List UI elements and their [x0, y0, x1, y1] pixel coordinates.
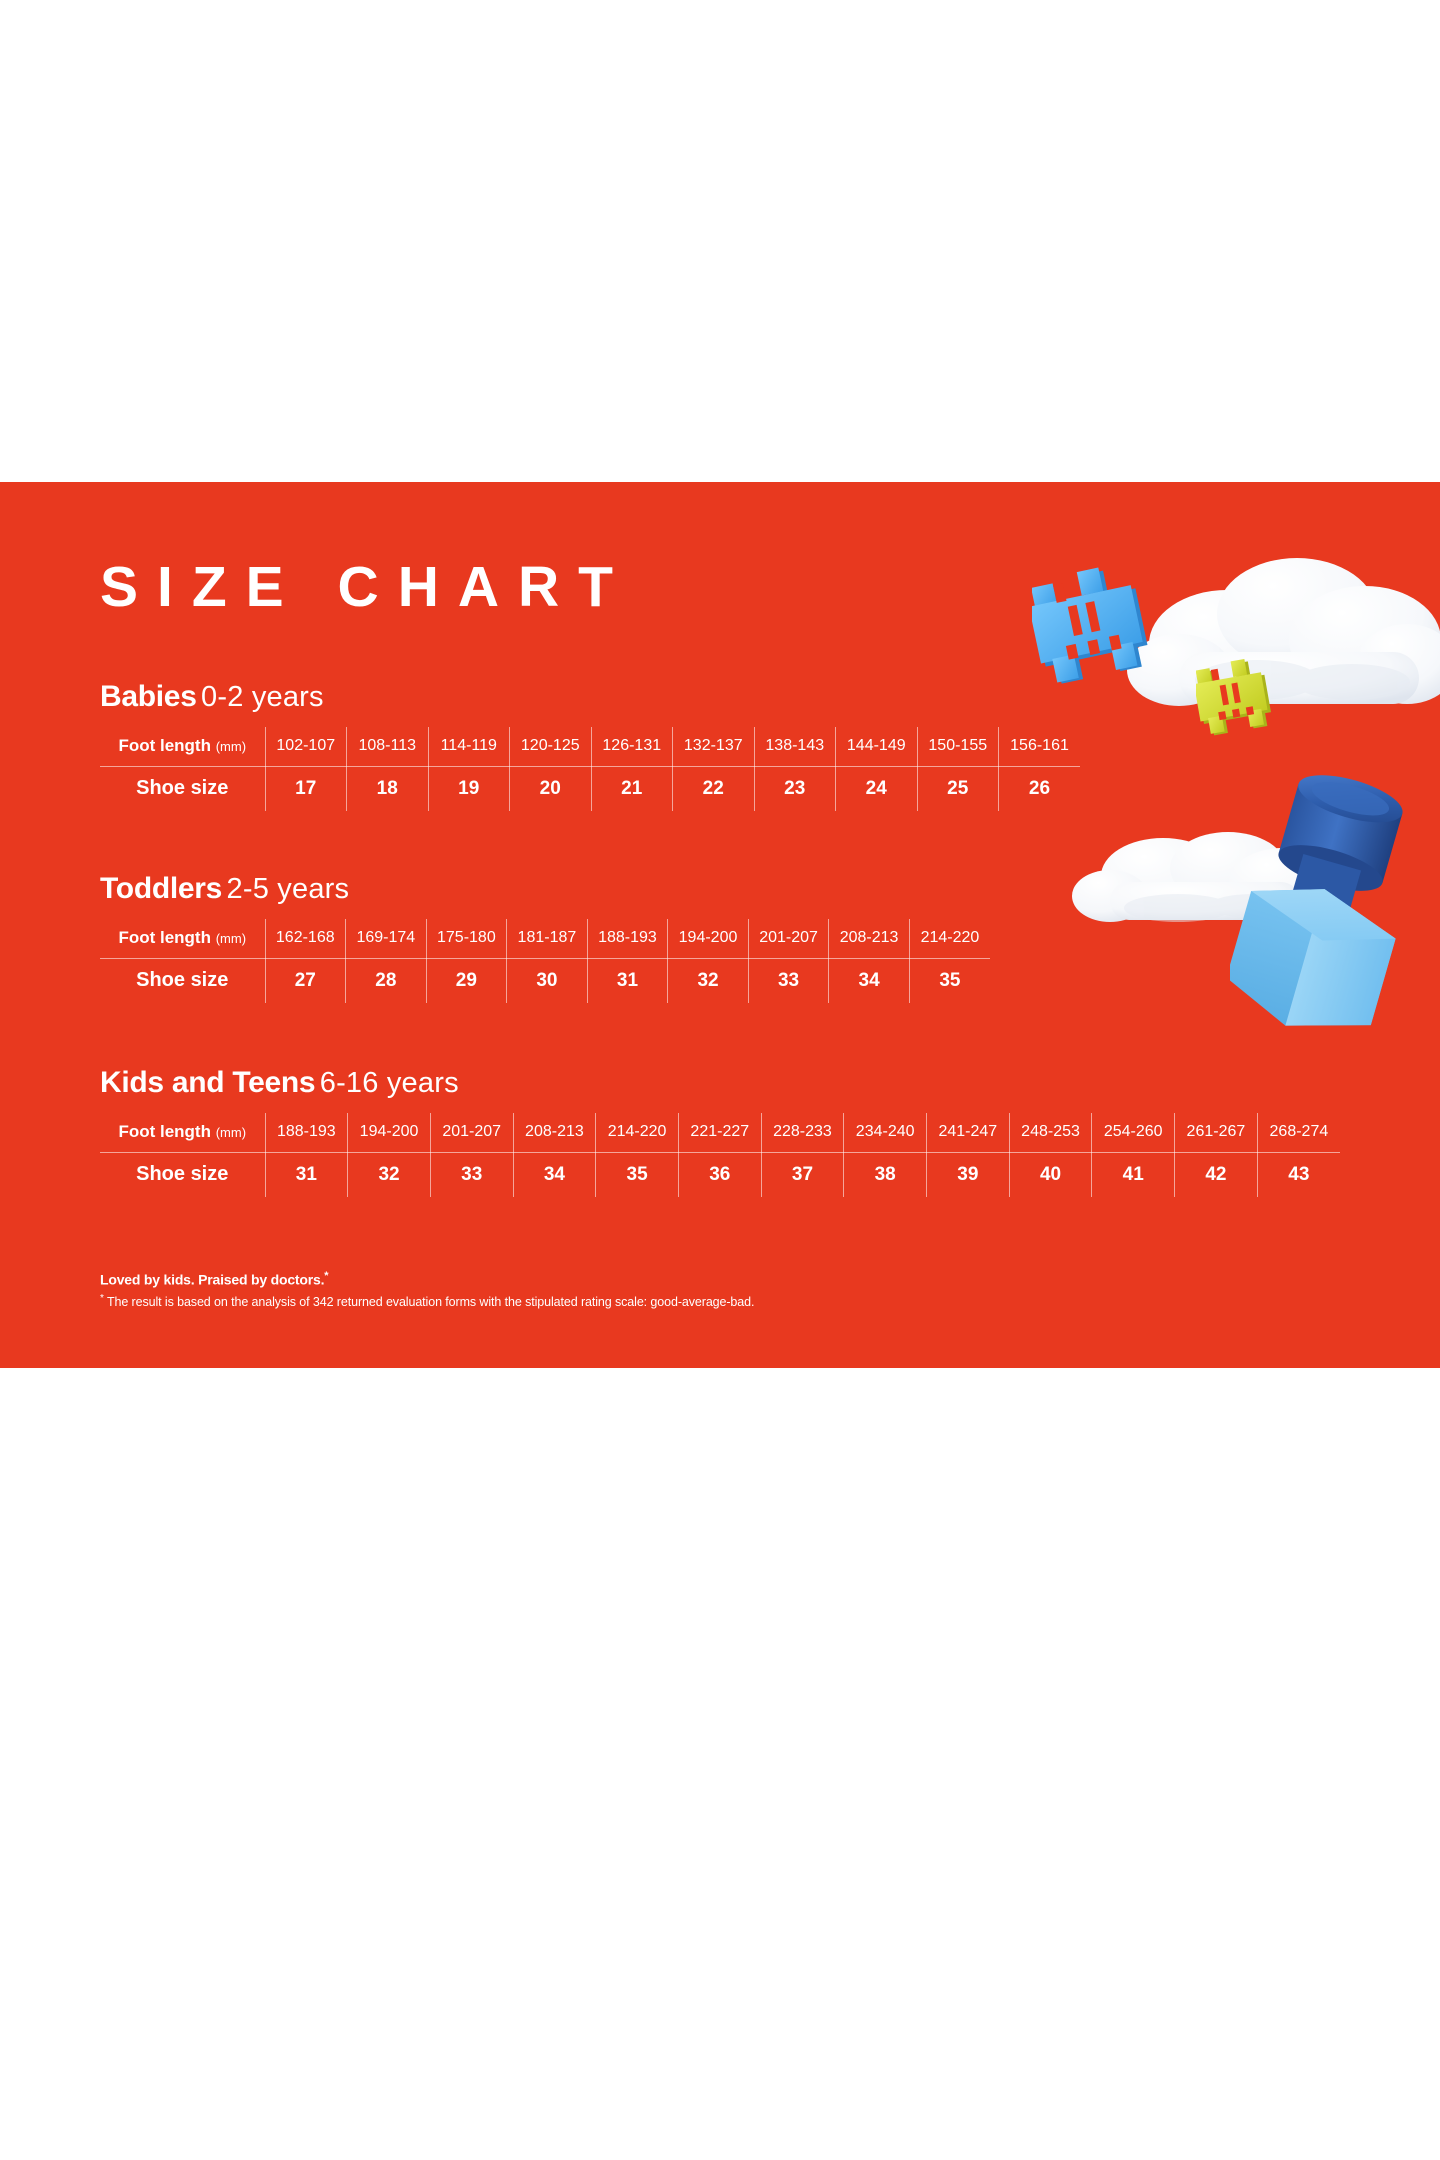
- size-table-toddlers: Foot length (mm) 162-168 169-174 175-180…: [100, 919, 990, 1003]
- cell-shoe-size: 33: [748, 958, 829, 1003]
- cell-foot-length: 156-161: [999, 727, 1081, 766]
- row-label-text: Foot length: [118, 736, 211, 755]
- cell-shoe-size: 30: [507, 958, 588, 1003]
- row-label-foot-length: Foot length (mm): [100, 727, 265, 766]
- cell-foot-length: 188-193: [265, 1113, 348, 1152]
- cell-shoe-size: 36: [678, 1152, 761, 1197]
- footer-tagline-text: Loved by kids. Praised by doctors.: [100, 1272, 324, 1288]
- section-age-range: 0-2 years: [201, 681, 324, 713]
- cell-shoe-size: 34: [829, 958, 910, 1003]
- cell-shoe-size: 18: [347, 766, 429, 811]
- cell-foot-length: 120-125: [510, 727, 592, 766]
- row-label-text: Foot length: [118, 928, 211, 947]
- cell-shoe-size: 35: [596, 1152, 679, 1197]
- cell-shoe-size: 26: [999, 766, 1081, 811]
- cell-foot-length: 108-113: [347, 727, 429, 766]
- cell-shoe-size: 33: [430, 1152, 513, 1197]
- size-table-babies: Foot length (mm) 102-107 108-113 114-119…: [100, 727, 1080, 811]
- cell-shoe-size: 20: [510, 766, 592, 811]
- cell-foot-length: 214-220: [909, 919, 990, 958]
- section-kids-and-teens: Kids and Teens 6-16 years Foot length (m…: [100, 1068, 1340, 1197]
- cell-foot-length: 194-200: [668, 919, 749, 958]
- table-row-foot-length: Foot length (mm) 162-168 169-174 175-180…: [100, 919, 990, 958]
- cell-shoe-size: 27: [265, 958, 346, 1003]
- cell-foot-length: 181-187: [507, 919, 588, 958]
- section-age-range: 2-5 years: [227, 873, 350, 905]
- cell-shoe-size: 22: [673, 766, 755, 811]
- cell-foot-length: 268-274: [1257, 1113, 1340, 1152]
- cell-foot-length: 248-253: [1009, 1113, 1092, 1152]
- cell-shoe-size: 21: [591, 766, 673, 811]
- cell-foot-length: 138-143: [754, 727, 836, 766]
- cell-shoe-size: 25: [917, 766, 999, 811]
- cell-foot-length: 188-193: [587, 919, 668, 958]
- footer: Loved by kids. Praised by doctors.* * Th…: [100, 1270, 754, 1311]
- cell-shoe-size: 24: [836, 766, 918, 811]
- cell-foot-length: 162-168: [265, 919, 346, 958]
- cell-foot-length: 261-267: [1175, 1113, 1258, 1152]
- table-row-shoe-size: Shoe size 27 28 29 30 31 32 33 34 35: [100, 958, 990, 1003]
- section-babies: Babies 0-2 years Foot length (mm) 102-10…: [100, 682, 1080, 811]
- table-row-foot-length: Foot length (mm) 102-107 108-113 114-119…: [100, 727, 1080, 766]
- cell-shoe-size: 37: [761, 1152, 844, 1197]
- page-title: SIZE CHART: [100, 559, 632, 616]
- cell-foot-length: 126-131: [591, 727, 673, 766]
- cell-foot-length: 144-149: [836, 727, 918, 766]
- section-heading-toddlers: Toddlers 2-5 years: [100, 874, 990, 904]
- cell-shoe-size: 35: [909, 958, 990, 1003]
- cell-shoe-size: 41: [1092, 1152, 1175, 1197]
- footer-note-text: The result is based on the analysis of 3…: [104, 1295, 755, 1309]
- cell-foot-length: 132-137: [673, 727, 755, 766]
- cell-foot-length: 241-247: [927, 1113, 1010, 1152]
- cell-foot-length: 221-227: [678, 1113, 761, 1152]
- cell-foot-length: 208-213: [829, 919, 910, 958]
- cell-foot-length: 175-180: [426, 919, 507, 958]
- table-row-foot-length: Foot length (mm) 188-193 194-200 201-207…: [100, 1113, 1340, 1152]
- table-row-shoe-size: Shoe size 31 32 33 34 35 36 37 38 39 40 …: [100, 1152, 1340, 1197]
- row-label-foot-length: Foot length (mm): [100, 919, 265, 958]
- cell-shoe-size: 39: [927, 1152, 1010, 1197]
- cell-shoe-size: 28: [346, 958, 427, 1003]
- section-heading-babies: Babies 0-2 years: [100, 682, 1080, 712]
- cell-foot-length: 201-207: [748, 919, 829, 958]
- size-chart-page: SIZE CHART Babies 0-2 years Foot length …: [0, 0, 1440, 2160]
- footer-tagline: Loved by kids. Praised by doctors.*: [100, 1270, 754, 1289]
- row-label-shoe-size: Shoe size: [100, 766, 265, 811]
- cell-foot-length: 201-207: [430, 1113, 513, 1152]
- section-age-range: 6-16 years: [320, 1067, 459, 1099]
- cell-shoe-size: 31: [587, 958, 668, 1003]
- section-heading-kids-and-teens: Kids and Teens 6-16 years: [100, 1068, 1340, 1098]
- row-label-unit: (mm): [216, 931, 246, 946]
- cell-shoe-size: 40: [1009, 1152, 1092, 1197]
- cell-shoe-size: 23: [754, 766, 836, 811]
- size-table-kids-and-teens: Foot length (mm) 188-193 194-200 201-207…: [100, 1113, 1340, 1197]
- cell-foot-length: 228-233: [761, 1113, 844, 1152]
- cell-foot-length: 194-200: [348, 1113, 431, 1152]
- cell-shoe-size: 42: [1175, 1152, 1258, 1197]
- cell-shoe-size: 19: [428, 766, 510, 811]
- cell-shoe-size: 32: [668, 958, 749, 1003]
- cell-foot-length: 208-213: [513, 1113, 596, 1152]
- footer-note: * The result is based on the analysis of…: [100, 1292, 754, 1311]
- section-toddlers: Toddlers 2-5 years Foot length (mm) 162-…: [100, 874, 990, 1003]
- row-label-shoe-size: Shoe size: [100, 1152, 265, 1197]
- cell-foot-length: 114-119: [428, 727, 510, 766]
- footnote-marker: *: [324, 1270, 328, 1282]
- cell-shoe-size: 34: [513, 1152, 596, 1197]
- cell-shoe-size: 31: [265, 1152, 348, 1197]
- cell-foot-length: 254-260: [1092, 1113, 1175, 1152]
- table-row-shoe-size: Shoe size 17 18 19 20 21 22 23 24 25 26: [100, 766, 1080, 811]
- cell-shoe-size: 29: [426, 958, 507, 1003]
- cell-shoe-size: 32: [348, 1152, 431, 1197]
- row-label-foot-length: Foot length (mm): [100, 1113, 265, 1152]
- row-label-unit: (mm): [216, 1125, 246, 1140]
- cell-foot-length: 169-174: [346, 919, 427, 958]
- cell-shoe-size: 17: [265, 766, 347, 811]
- cell-shoe-size: 38: [844, 1152, 927, 1197]
- cell-foot-length: 150-155: [917, 727, 999, 766]
- section-name: Toddlers: [100, 872, 222, 905]
- row-label-unit: (mm): [216, 739, 246, 754]
- row-label-shoe-size: Shoe size: [100, 958, 265, 1003]
- section-name: Kids and Teens: [100, 1066, 315, 1099]
- cell-foot-length: 102-107: [265, 727, 347, 766]
- cell-shoe-size: 43: [1257, 1152, 1340, 1197]
- cell-foot-length: 234-240: [844, 1113, 927, 1152]
- section-name: Babies: [100, 680, 197, 713]
- cell-foot-length: 214-220: [596, 1113, 679, 1152]
- row-label-text: Foot length: [118, 1122, 211, 1141]
